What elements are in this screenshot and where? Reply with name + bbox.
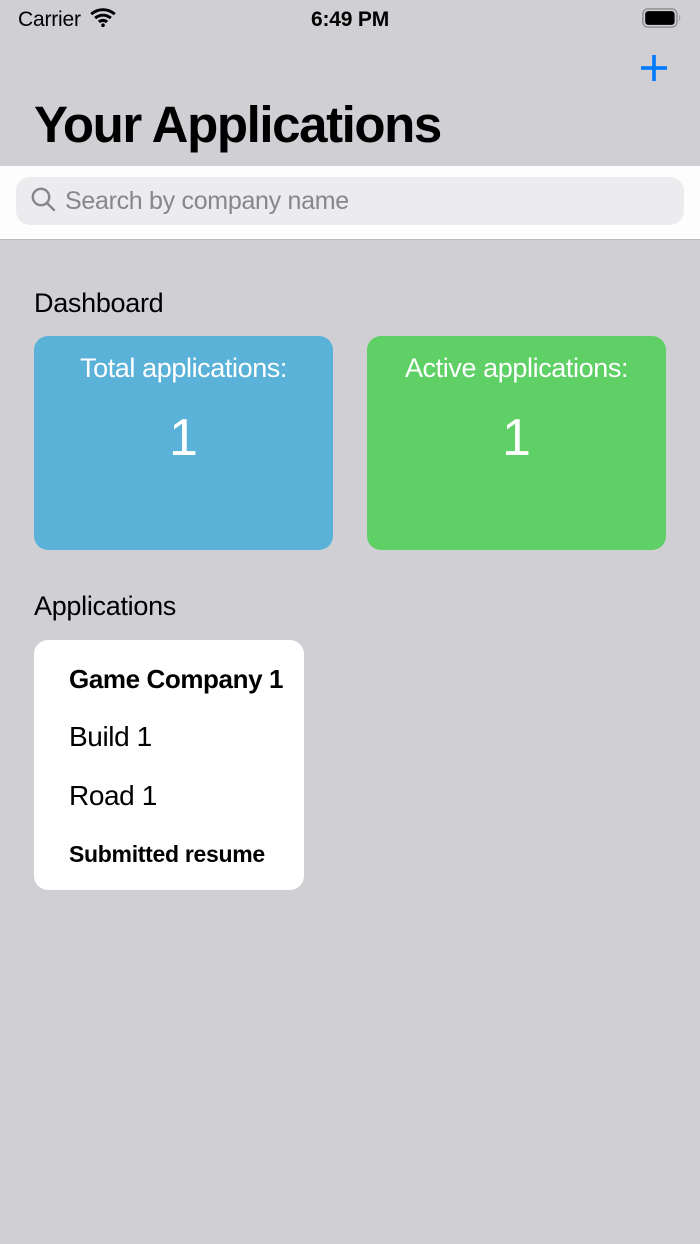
wifi-icon xyxy=(90,8,116,32)
application-card[interactable]: Game Company 1 Build 1 Road 1 Submitted … xyxy=(34,640,304,890)
nav-bar xyxy=(0,40,700,96)
plus-icon xyxy=(638,52,670,89)
search-input[interactable]: Search by company name xyxy=(16,177,684,225)
status-bar-right xyxy=(642,8,682,33)
applications-list: Game Company 1 Build 1 Road 1 Submitted … xyxy=(34,640,666,890)
application-detail-line-2: Road 1 xyxy=(69,782,304,810)
search-icon xyxy=(30,186,56,217)
applications-section-title: Applications xyxy=(34,550,666,640)
carrier-label: Carrier xyxy=(18,8,81,32)
main-content: Dashboard Total applications: 1 Active a… xyxy=(0,240,700,890)
stat-card-total-applications[interactable]: Total applications: 1 xyxy=(34,336,333,550)
page-title: Your Applications xyxy=(0,96,700,152)
battery-full-icon xyxy=(642,8,682,33)
add-application-button[interactable] xyxy=(634,50,674,90)
stat-card-active-applications[interactable]: Active applications: 1 xyxy=(367,336,666,550)
application-company-name: Game Company 1 xyxy=(69,666,304,692)
application-status: Submitted resume xyxy=(69,843,304,866)
search-placeholder: Search by company name xyxy=(65,187,349,216)
stat-card-value: 1 xyxy=(169,412,198,464)
stat-card-label: Total applications: xyxy=(80,354,287,384)
dashboard-stat-row: Total applications: 1 Active application… xyxy=(34,336,666,550)
dashboard-section-title: Dashboard xyxy=(34,240,666,336)
search-bar-container: Search by company name xyxy=(0,166,700,240)
stat-card-label: Active applications: xyxy=(405,354,628,384)
application-detail-line-1: Build 1 xyxy=(69,723,304,751)
stat-card-value: 1 xyxy=(502,412,531,464)
status-bar-left: Carrier xyxy=(18,8,116,32)
status-bar: Carrier 6:49 PM xyxy=(0,0,700,40)
